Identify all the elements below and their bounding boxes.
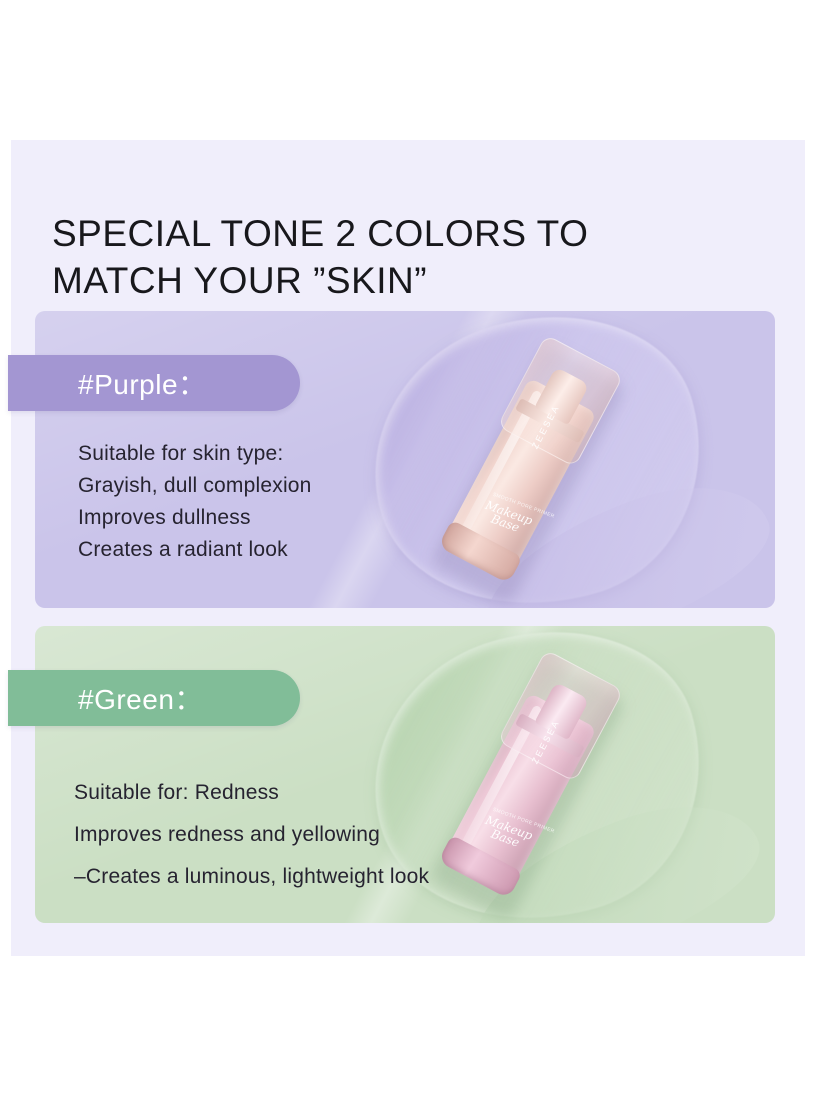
- product-photo-purple: ZEESEA SMOOTH PORE PRIMER Makeup Base: [355, 311, 775, 608]
- shade-badge-label-green: #Green：: [8, 678, 203, 718]
- shade-badge-label-purple: #Purple：: [8, 363, 207, 403]
- page-title: SPECIAL TONE 2 COLORS TO MATCH YOUR ”SKI…: [52, 210, 752, 304]
- shade-badge-purple: #Purple：: [8, 355, 300, 411]
- shade-badge-green: #Green：: [8, 670, 300, 726]
- shade-description-purple: Suitable for skin type: Grayish, dull co…: [78, 438, 312, 566]
- shade-description-green: Suitable for: Redness Improves redness a…: [74, 772, 429, 898]
- product-feature-page: SPECIAL TONE 2 COLORS TO MATCH YOUR ”SKI…: [0, 0, 816, 1112]
